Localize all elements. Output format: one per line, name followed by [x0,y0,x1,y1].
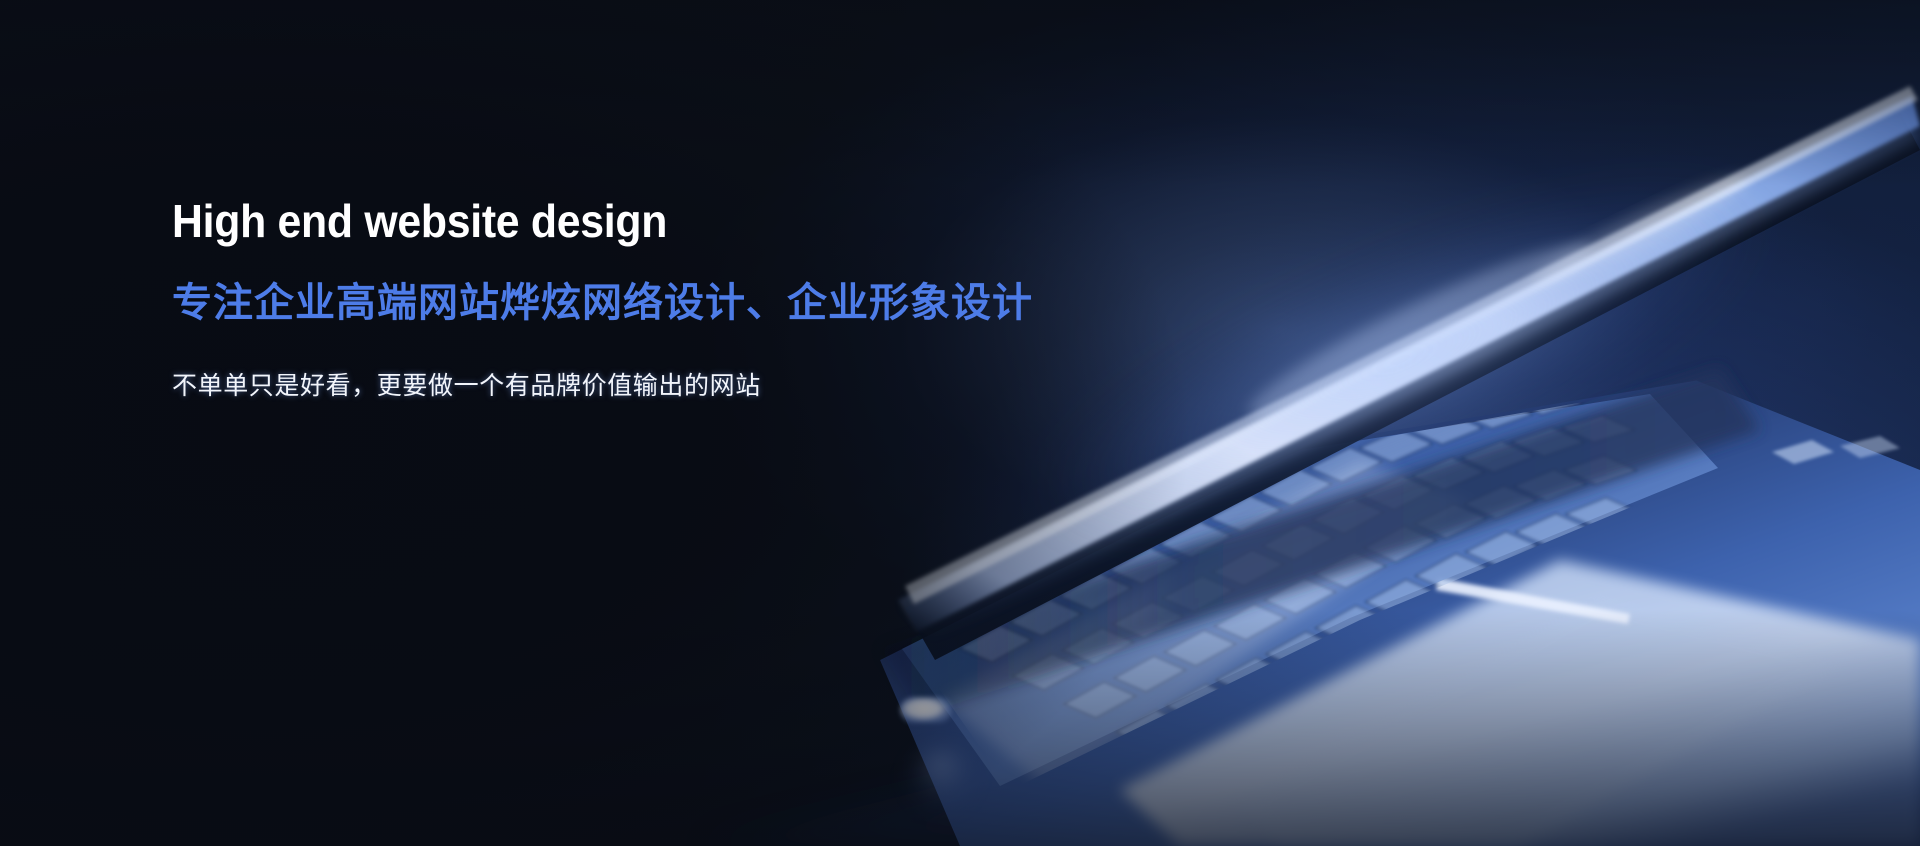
vignette-overlay [0,0,1920,846]
hero-banner: High end website design 专注企业高端网站烨炫网络设计、企… [0,0,1920,846]
banner-subline: 不单单只是好看，更要做一个有品牌价值输出的网站 [172,369,1292,403]
banner-headline-english: High end website design [172,198,1214,246]
banner-copy: High end website design 专注企业高端网站烨炫网络设计、企… [172,198,1292,403]
banner-headline-chinese: 专注企业高端网站烨炫网络设计、企业形象设计 [172,280,1292,327]
